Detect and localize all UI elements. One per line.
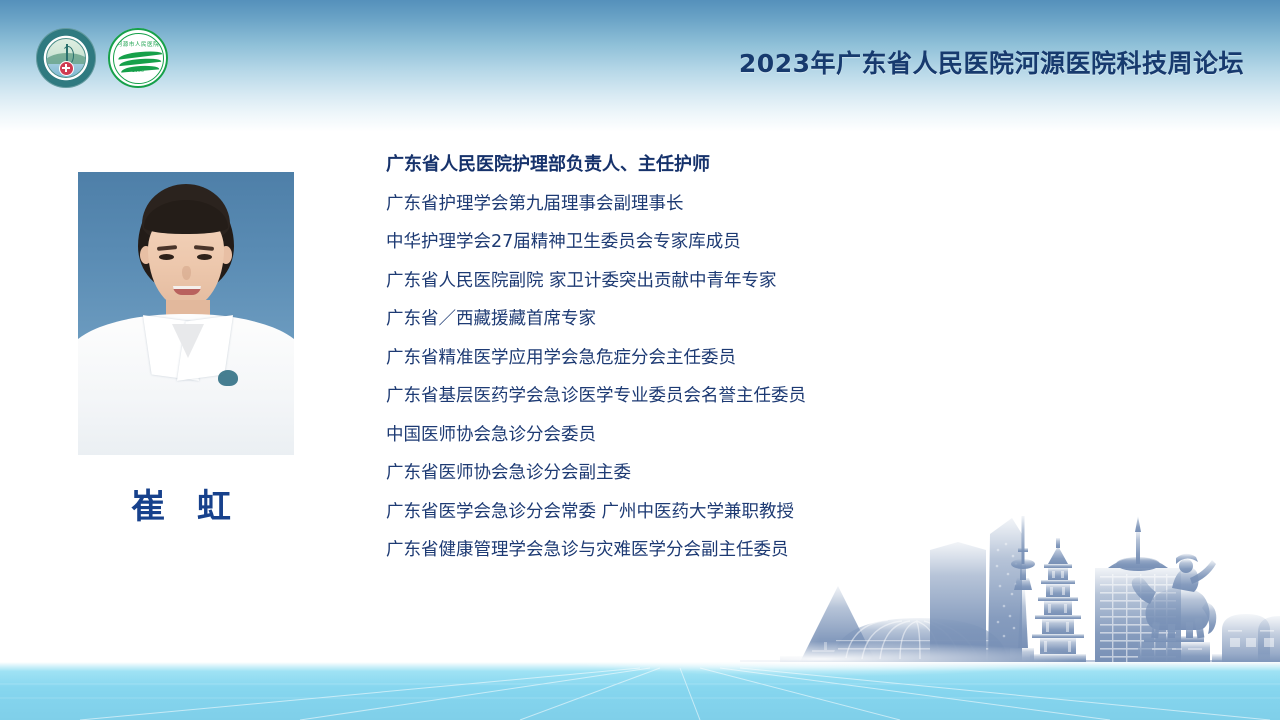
credential-line: 广东省护理学会第九届理事会副理事长: [386, 185, 1226, 224]
slide-header: 河源市人民医院 1906 2023年广东省人民医院河源医院科技周论坛: [0, 0, 1280, 132]
credential-line: 中国医师协会急诊分会委员: [386, 416, 1226, 455]
medical-cross-icon: [59, 61, 74, 76]
logo-top-text: 河源市人民医院: [114, 40, 163, 48]
hospital-badge-icon: [218, 370, 238, 386]
presentation-slide: 河源市人民医院 1906 2023年广东省人民医院河源医院科技周论坛: [0, 0, 1280, 720]
credential-line: 广东省精准医学应用学会急危症分会主任委员: [386, 339, 1226, 378]
credential-line: 广东省／西藏援藏首席专家: [386, 300, 1226, 339]
heyuan-peoples-hospital-logo: 河源市人民医院 1906: [108, 28, 168, 88]
guangdong-medical-association-logo: [36, 28, 96, 88]
credential-line: 中华护理学会27届精神卫生委员会专家库成员: [386, 223, 1226, 262]
logo-group: 河源市人民医院 1906: [36, 28, 168, 88]
water-glow: [560, 642, 1080, 676]
credential-line: 广东省医师协会急诊分会副主委: [386, 454, 1226, 493]
credential-line: 广东省人民医院副院 家卫计委突出贡献中青年专家: [386, 262, 1226, 301]
speaker-portrait-block: 崔 虹: [78, 172, 294, 528]
speaker-credentials-list: 广东省人民医院护理部负责人、主任护师 广东省护理学会第九届理事会副理事长 中华护…: [386, 146, 1226, 570]
credential-line: 广东省人民医院护理部负责人、主任护师: [386, 146, 1226, 185]
forum-title: 2023年广东省人民医院河源医院科技周论坛: [739, 44, 1244, 80]
logo-year: 1906: [114, 68, 163, 74]
credential-line: 广东省健康管理学会急诊与灾难医学分会副主任委员: [386, 531, 1226, 570]
speaker-name: 崔 虹: [78, 479, 294, 528]
credential-line: 广东省基层医药学会急诊医学专业委员会名誉主任委员: [386, 377, 1226, 416]
speaker-photo: [78, 172, 294, 455]
credential-line: 广东省医学会急诊分会常委 广州中医药大学兼职教授: [386, 493, 1226, 532]
